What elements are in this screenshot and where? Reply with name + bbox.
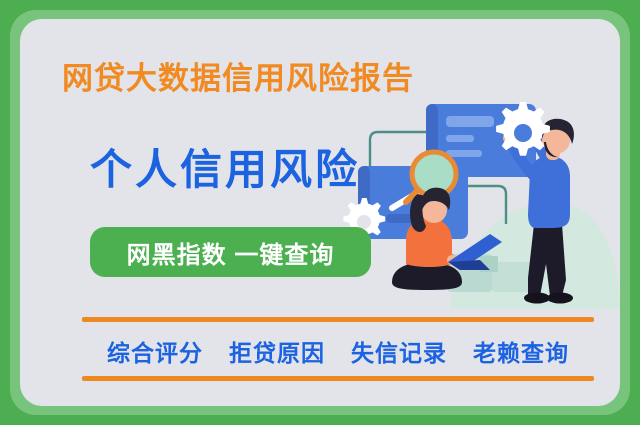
feature-item-laolai-query[interactable]: 老赖查询 — [473, 334, 569, 368]
feature-divider-top — [82, 317, 594, 322]
query-cta-button[interactable]: 网黑指数 一键查询 — [90, 227, 371, 277]
feature-item-dishonesty-record[interactable]: 失信记录 — [351, 334, 447, 368]
feature-item-score[interactable]: 综合评分 — [107, 334, 203, 368]
credit-report-illustration — [330, 74, 620, 309]
query-cta-label: 网黑指数 一键查询 — [127, 235, 335, 270]
gear-large-white-icon — [496, 102, 550, 156]
feature-item-rejection-reason[interactable]: 拒贷原因 — [229, 334, 325, 368]
feature-divider-bottom — [82, 376, 594, 381]
page-title: 网贷大数据信用风险报告 — [62, 60, 414, 98]
poster-root: 网贷大数据信用风险报告 个人信用风险 网黑指数 一键查询 综合评分 拒贷原因 失… — [0, 0, 640, 425]
poster-card: 网贷大数据信用风险报告 个人信用风险 网黑指数 一键查询 综合评分 拒贷原因 失… — [20, 19, 620, 406]
page-subtitle: 个人信用风险 — [90, 144, 360, 196]
feature-list: 综合评分 拒贷原因 失信记录 老赖查询 — [82, 331, 594, 371]
